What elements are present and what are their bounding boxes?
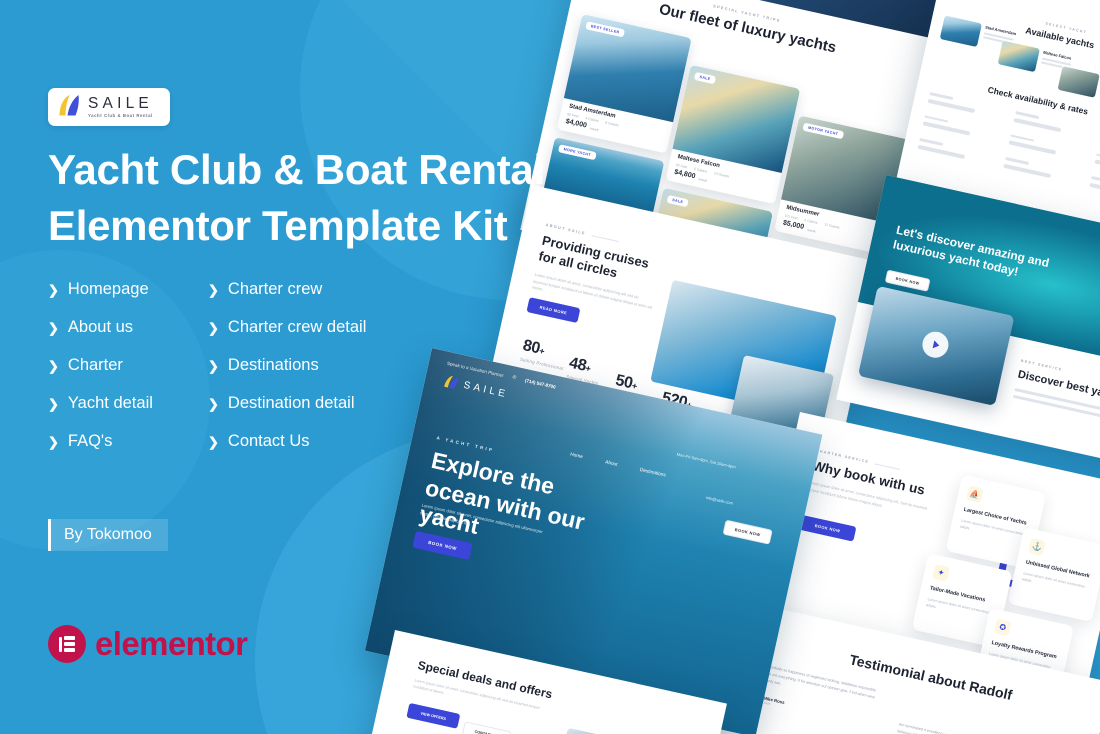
yacht-spec-guest: 12 Guests [824,222,840,229]
chevron-right-icon: ❯ [208,322,219,335]
brand-logo-badge: SAILE Yacht Club & Boat Rental [48,88,170,126]
field-value [1009,140,1057,154]
field-value [1003,163,1051,177]
field-label [929,92,953,100]
yacht-price-unit: /week [807,228,817,234]
award-icon: ✪ [994,619,1012,637]
feature-item-charter-crew-detail[interactable]: ❯ Charter crew detail [208,318,448,337]
feature-item-charter-crew[interactable]: ❯ Charter crew [208,280,448,299]
feature-item-yacht-detail[interactable]: ❯ Yacht detail [48,394,208,413]
elementor-bar-vertical [59,637,62,652]
elementor-logo: elementor [48,625,247,663]
feature-item-homepage[interactable]: ❯ Homepage [48,280,208,299]
chevron-right-icon: ❯ [48,360,59,373]
feature-label: Charter crew detail [228,318,366,337]
yacht-price-unit: /week [698,177,708,183]
field-value [1014,117,1062,131]
elementor-bars-horizontal [64,636,75,651]
feature-label: About us [68,318,133,337]
feature-item-destinations[interactable]: ❯ Destinations [208,356,448,375]
testimonial-text: Am terminated it excellence invitation p… [895,721,1024,734]
yacht-thumb [998,41,1040,73]
why-card[interactable]: ⚓ Unbiased Global Network Lorem ipsum do… [1007,527,1100,622]
compass-icon: ✦ [932,564,950,582]
feature-label: Destinations [228,356,319,375]
chevron-right-icon: ❯ [208,284,219,297]
globe-icon: ⚓ [1028,538,1046,556]
yacht-thumb [940,15,982,47]
availability-yacht-row[interactable]: Midsummer [1058,66,1100,105]
page-title: Yacht Club & Boat Rental Elementor Templ… [48,142,588,254]
author-byline: By Tokomoo [48,519,168,551]
field-label [1005,157,1029,165]
feature-item-faqs[interactable]: ❯ FAQ's [48,432,208,451]
feature-label: Yacht detail [68,394,153,413]
feature-label: FAQ's [68,432,112,451]
mockup-discover-page: Let's discover amazing and luxurious yac… [836,175,1100,464]
chevron-right-icon: ❯ [208,398,219,411]
brand-logo-tagline: Yacht Club & Boat Rental [88,114,153,118]
feature-label: Homepage [68,280,149,299]
feature-item-about-us[interactable]: ❯ About us [48,318,208,337]
yacht-spec-cabin: 6 Cabins [804,218,818,225]
feature-label: Charter [68,356,123,375]
feature-list: ❯ Homepage ❯ Charter crew ❯ About us ❯ C… [48,280,448,451]
author-byline-label: By Tokomoo [64,526,152,544]
testimonial-item: Am terminated it excellence invitation p… [890,721,1024,734]
chevron-right-icon: ❯ [208,360,219,373]
yacht-card[interactable]: Maltese Falcon 92 Feet 5 Cabins 10 Guest… [665,65,800,204]
yacht-thumb [1058,66,1100,98]
field-value [1089,182,1100,196]
chevron-right-icon: ❯ [208,436,219,449]
chevron-right-icon: ❯ [48,436,59,449]
feature-item-destination-detail[interactable]: ❯ Destination detail [208,394,448,413]
why-book-button[interactable]: BOOK NOW [799,515,857,542]
field-value [1094,159,1100,173]
play-triangle [933,340,941,349]
promo-left-column: SAILE Yacht Club & Boat Rental Yacht Clu… [48,0,608,734]
brand-logo-text: SAILE Yacht Club & Boat Rental [88,96,153,119]
feature-item-contact-us[interactable]: ❯ Contact Us [208,432,448,451]
sail-boat-icon [56,94,82,120]
yacht-spec-guest: 10 Guests [714,171,730,178]
feature-label: Contact Us [228,432,310,451]
yacht-icon: ⛵ [966,485,984,503]
feature-item-charter[interactable]: ❯ Charter [48,356,208,375]
why-eyebrow-rule [875,463,901,470]
feature-label: Charter crew [228,280,322,299]
field-label [919,138,943,146]
chevron-right-icon: ❯ [48,322,59,335]
field-value [918,144,966,158]
field-label [1015,111,1039,119]
chevron-right-icon: ❯ [48,284,59,297]
brand-logo-word: SAILE [88,96,153,112]
elementor-wordmark: elementor [95,625,247,663]
feature-label: Destination detail [228,394,355,413]
field-value [928,98,976,112]
field-value [923,121,971,135]
elementor-mark-icon [48,625,86,663]
chevron-right-icon: ❯ [48,398,59,411]
stat-suffix: + [631,381,638,392]
